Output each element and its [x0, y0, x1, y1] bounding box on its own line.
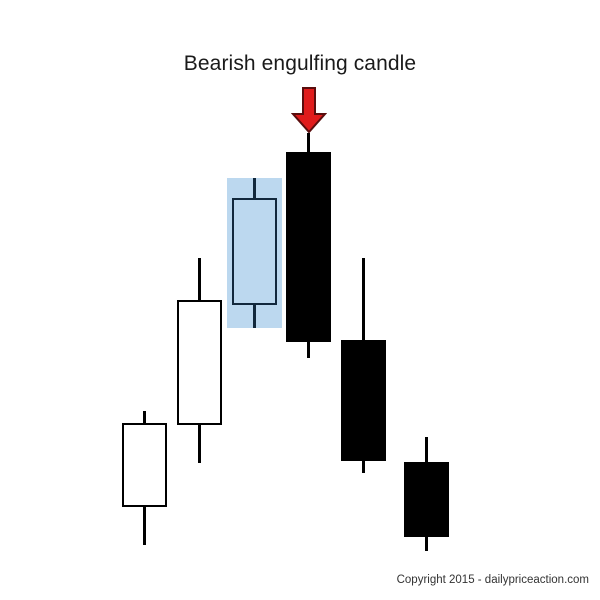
chart-title: Bearish engulfing candle — [0, 52, 600, 76]
down-arrow-icon — [291, 86, 327, 134]
candle-body-bullish — [177, 300, 222, 425]
copyright-notice: Copyright 2015 - dailypriceaction.com — [397, 574, 589, 586]
candle-body-bearish — [341, 340, 386, 461]
candle-body-bullish — [232, 198, 277, 305]
candle-body-bearish — [286, 152, 331, 342]
candle-body-bullish — [122, 423, 167, 507]
candle-body-bearish — [404, 462, 449, 537]
candlestick-chart: Bearish engulfing candle Copyright 2015 … — [0, 0, 600, 600]
